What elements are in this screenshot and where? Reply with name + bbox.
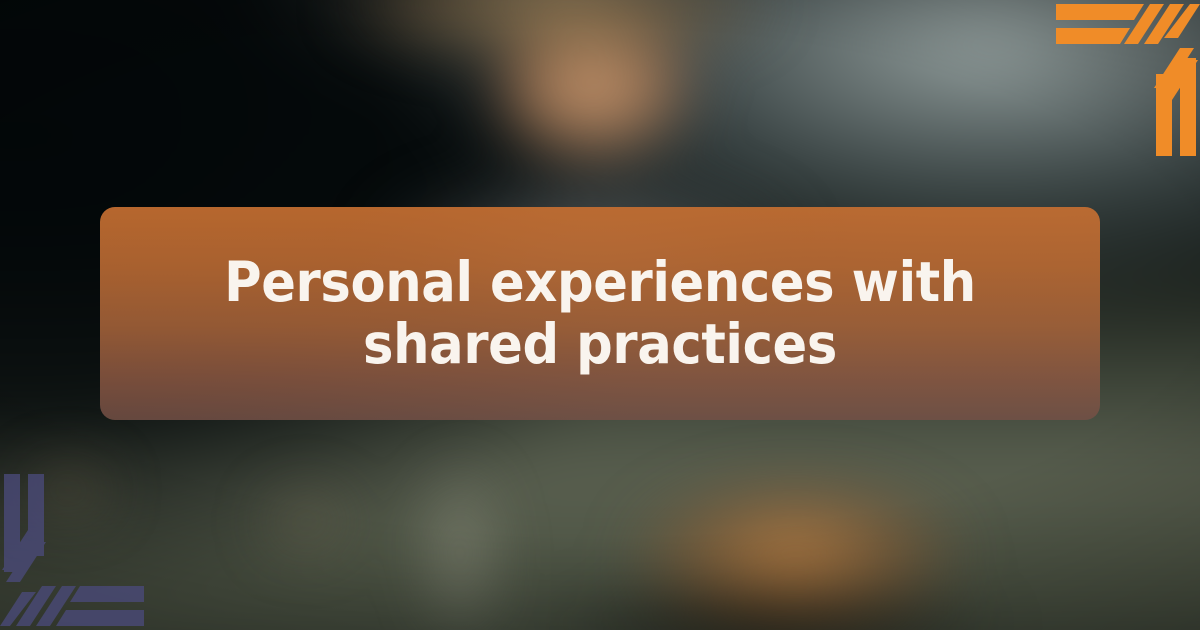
corner-bracket-icon-bottom-left (0, 470, 160, 630)
corner-bracket-icon-top-right (1040, 0, 1200, 160)
social-card-canvas: Personal experiences with shared practic… (0, 0, 1200, 630)
title-card: Personal experiences with shared practic… (100, 207, 1100, 420)
page-title: Personal experiences with shared practic… (187, 252, 1013, 375)
